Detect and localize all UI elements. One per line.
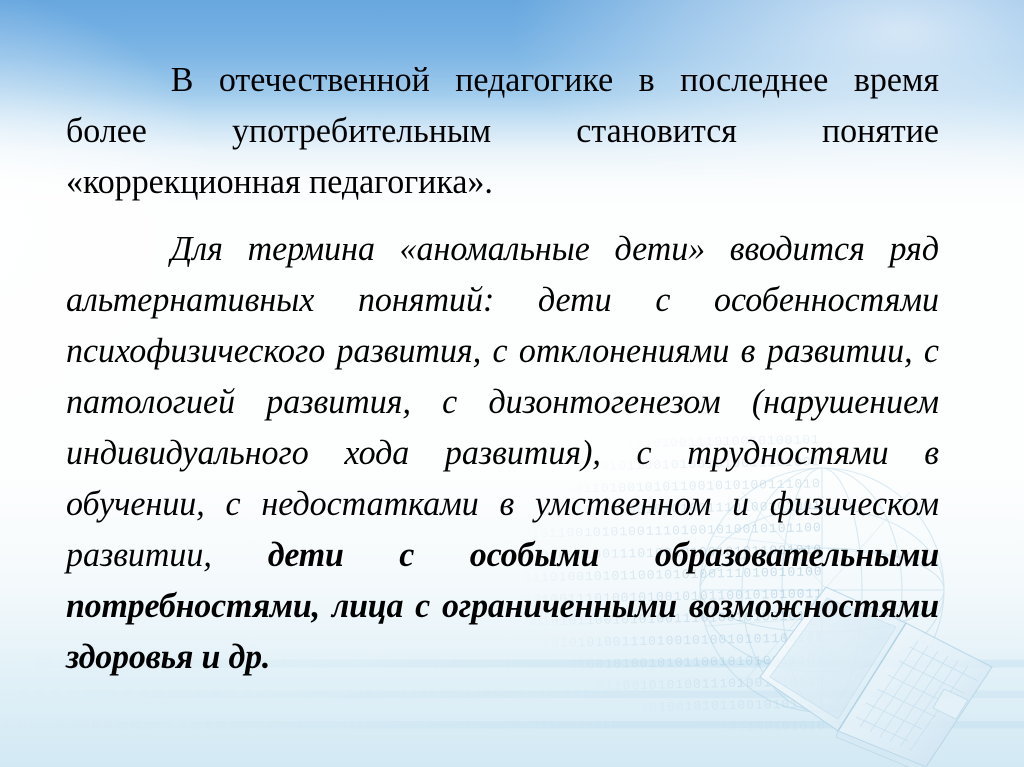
slide-body: В отечественной педагогике в последнее в… — [66, 54, 966, 682]
slide-canvas: 0100101011001010100111010010100101 10100… — [0, 0, 1024, 767]
paragraph-two: Для термина «аномальные дети» вводится р… — [66, 223, 939, 682]
paragraph-two-lead: Для термина «аномальные дети» вводится р… — [66, 229, 939, 574]
paragraph-one: В отечественной педагогике в последнее в… — [66, 54, 939, 207]
